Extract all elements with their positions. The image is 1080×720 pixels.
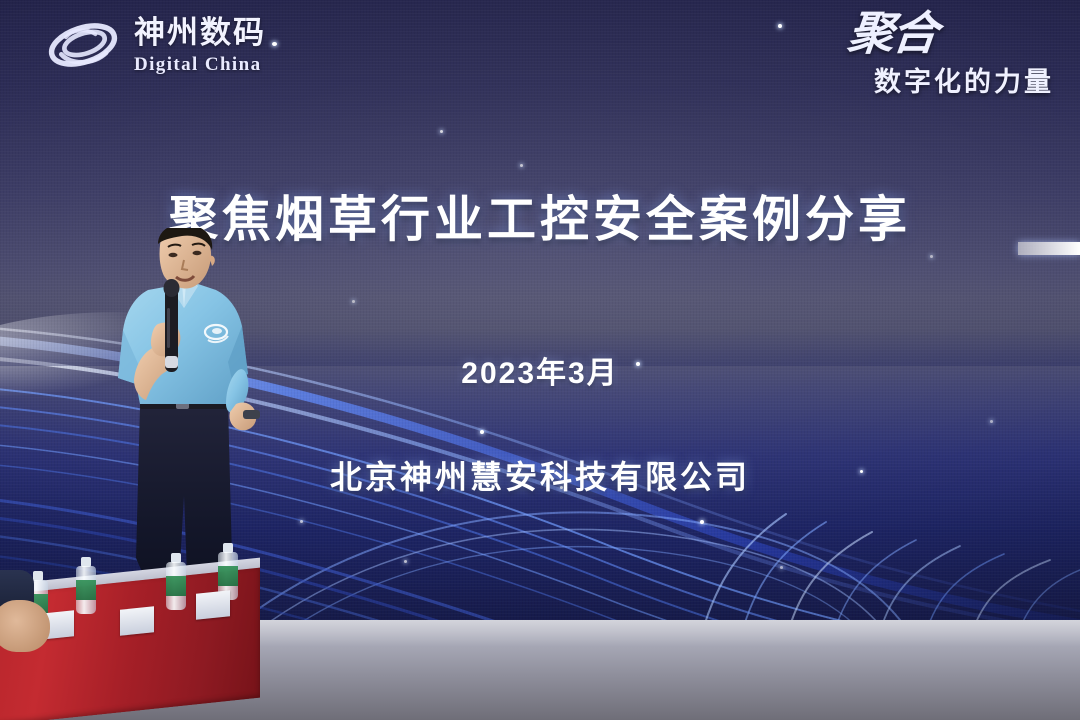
digital-china-brand-lockup: 神州数码 Digital China bbox=[44, 14, 266, 76]
bottle-body bbox=[76, 566, 96, 614]
light-particle bbox=[990, 420, 993, 423]
bottle-label bbox=[166, 576, 186, 596]
light-particle bbox=[440, 130, 443, 133]
light-particle bbox=[520, 164, 523, 167]
bottle-label bbox=[76, 580, 96, 600]
light-particle bbox=[480, 430, 484, 434]
bottle-body bbox=[166, 562, 186, 610]
event-tagline-cn: 数字化的力量 bbox=[784, 60, 1054, 99]
digital-china-swirl-icon bbox=[44, 14, 122, 76]
light-particle bbox=[272, 42, 277, 46]
accent-bar-decoration bbox=[1018, 242, 1080, 255]
brand-name-cn: 神州数码 bbox=[134, 17, 266, 48]
presentation-photo: 神州数码 Digital China 聚合 数字化的力量 聚焦烟草行业工控安全案… bbox=[0, 0, 1080, 720]
presenter-clicker bbox=[243, 410, 260, 419]
microphone-icon bbox=[164, 279, 180, 372]
light-particle bbox=[778, 24, 782, 28]
light-particle bbox=[700, 520, 704, 524]
light-particle bbox=[352, 300, 355, 303]
event-brand-lockup: 聚合 数字化的力量 bbox=[784, 12, 1054, 99]
light-particle bbox=[300, 520, 303, 523]
water-bottle bbox=[166, 562, 186, 610]
water-bottle bbox=[76, 566, 96, 614]
name-card bbox=[120, 606, 154, 636]
brand-name-en: Digital China bbox=[134, 55, 266, 74]
name-card bbox=[196, 590, 230, 620]
light-particle bbox=[404, 560, 407, 563]
bottle-label bbox=[218, 566, 238, 586]
event-mark-cn: 聚合 bbox=[782, 12, 939, 56]
light-particle bbox=[780, 566, 783, 569]
light-particle bbox=[930, 255, 933, 258]
attendee-hand bbox=[0, 600, 50, 652]
